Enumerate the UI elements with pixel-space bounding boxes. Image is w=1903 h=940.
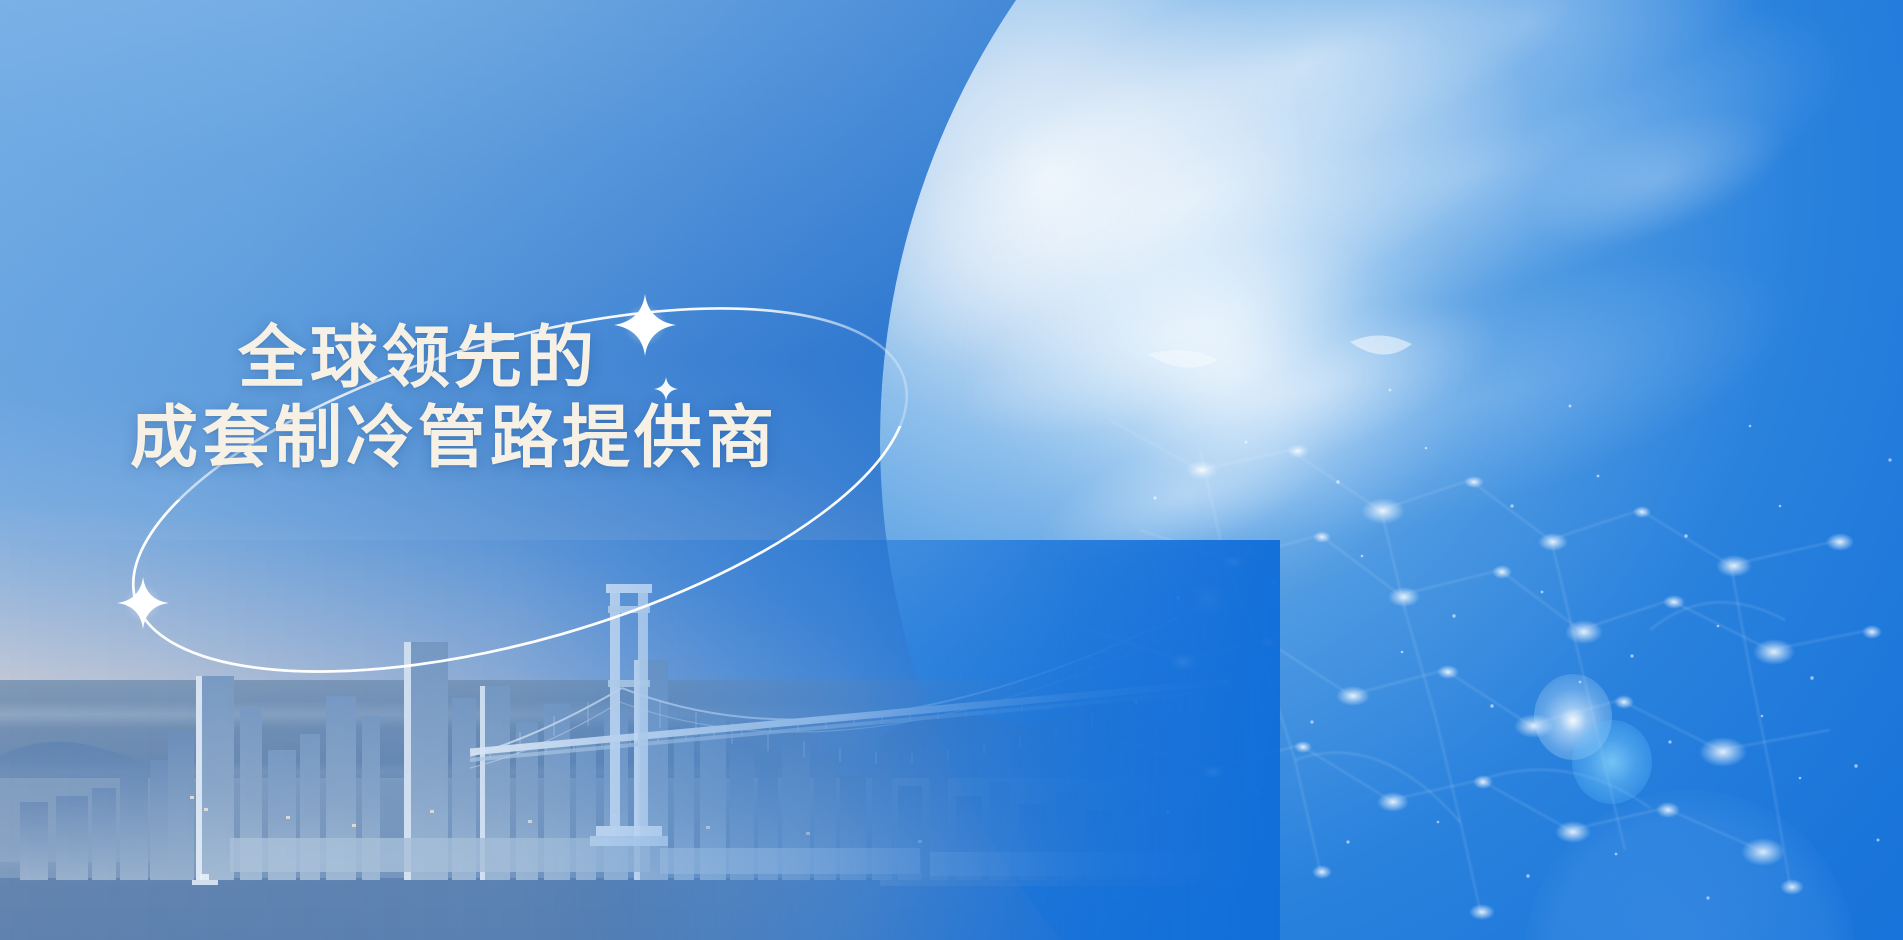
bay-water bbox=[0, 680, 1160, 940]
hero-banner: 全球领先的 成套制冷管路提供商 bbox=[0, 0, 1903, 940]
headline-block: 全球领先的 成套制冷管路提供商 bbox=[130, 318, 950, 478]
headline-line-1: 全球领先的 bbox=[238, 318, 950, 398]
headline-line-2: 成套制冷管路提供商 bbox=[130, 398, 950, 478]
